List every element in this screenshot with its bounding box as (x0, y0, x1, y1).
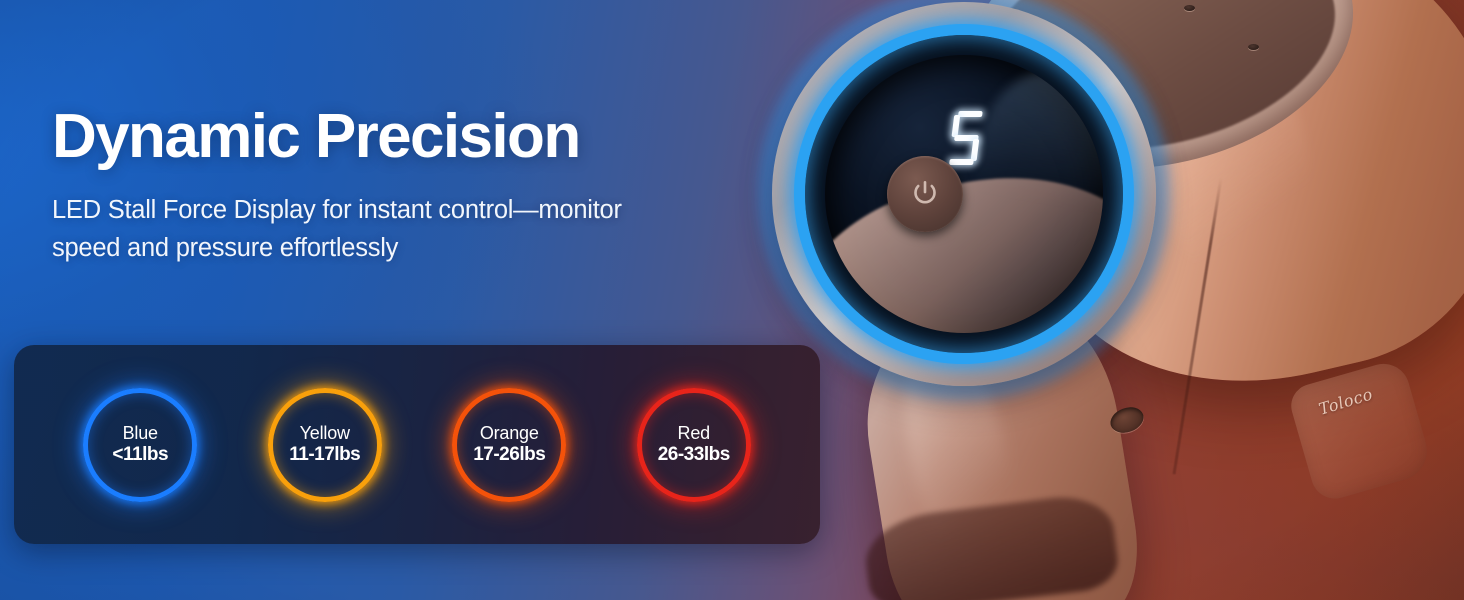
force-ring-icon: Blue <11lbs (83, 388, 197, 502)
bezel-screw-icon (1248, 44, 1259, 50)
segment-a (958, 111, 983, 117)
segment-f (952, 115, 961, 137)
force-badge-label: Orange (480, 423, 539, 443)
force-badge-label: Yellow (300, 423, 350, 443)
force-badge-yellow[interactable]: Yellow 11-17lbs (233, 388, 418, 502)
segment-d (949, 159, 974, 165)
product-feature-banner: Toloco Dynamic Precision LED Stall Force… (0, 0, 1464, 600)
force-badge-blue[interactable]: Blue <11lbs (48, 388, 233, 502)
segment-c (971, 139, 980, 161)
bezel-screw-icon (1184, 5, 1195, 11)
force-ring-icon: Orange 17-26lbs (452, 388, 566, 502)
banner-subtitle: LED Stall Force Display for instant cont… (52, 192, 677, 266)
force-badge-orange[interactable]: Orange 17-26lbs (417, 388, 602, 502)
force-badge-range: 26-33lbs (658, 444, 730, 467)
stall-force-legend-panel: Blue <11lbs Yellow 11-17lbs Orange 17-26… (14, 345, 820, 544)
massage-gun-product-image (844, 0, 1464, 600)
force-badge-range: 11-17lbs (289, 444, 360, 467)
banner-copy: Dynamic Precision LED Stall Force Displa… (52, 105, 752, 267)
led-display-head (788, 18, 1140, 370)
led-status-ring (794, 24, 1134, 364)
force-badge-label: Blue (123, 423, 158, 443)
led-screen (825, 55, 1103, 333)
force-ring-icon: Red 26-33lbs (637, 388, 751, 502)
force-badge-label: Red (678, 423, 710, 443)
power-icon (910, 179, 940, 209)
force-badge-range: <11lbs (112, 444, 168, 467)
power-button[interactable] (887, 156, 963, 232)
page-title: Dynamic Precision (52, 105, 752, 169)
force-badge-red[interactable]: Red 26-33lbs (602, 388, 787, 502)
force-ring-icon: Yellow 11-17lbs (268, 388, 382, 502)
force-badge-range: 17-26lbs (473, 444, 545, 467)
